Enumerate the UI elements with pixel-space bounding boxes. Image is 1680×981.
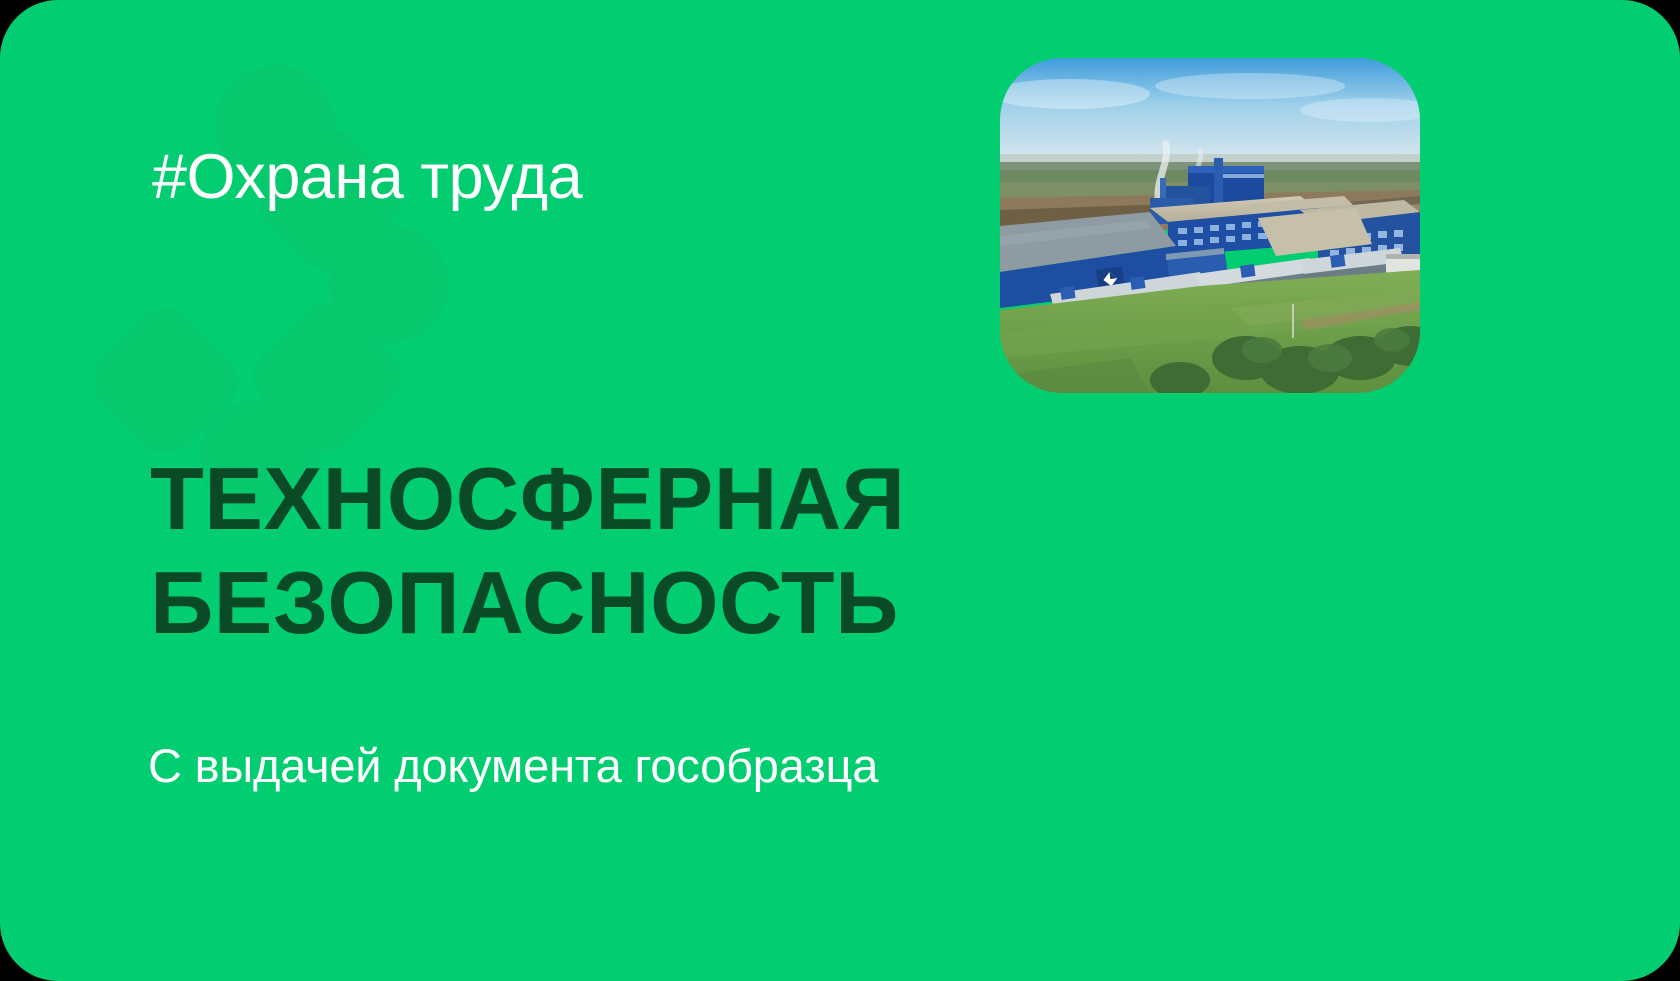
subtitle-text: С выдачей документа гособразца: [148, 738, 878, 793]
page-title-line-2: БЕЗОПАСНОСТЬ: [150, 551, 906, 655]
promo-card: #Охрана труда ТЕХНОСФЕРНАЯ БЕЗОПАСНОСТЬ …: [0, 0, 1680, 981]
plant-photo-illustration: [1000, 58, 1420, 393]
hashtag-label: #Охрана труда: [152, 141, 582, 213]
page-title-line-1: ТЕХНОСФЕРНАЯ: [150, 447, 906, 551]
decor-diamond-4: [80, 295, 253, 468]
plant-photo: [1000, 58, 1420, 393]
page-title: ТЕХНОСФЕРНАЯ БЕЗОПАСНОСТЬ: [150, 447, 906, 655]
decor-diamond-5: [239, 289, 414, 464]
decor-circle-3: [330, 225, 448, 343]
